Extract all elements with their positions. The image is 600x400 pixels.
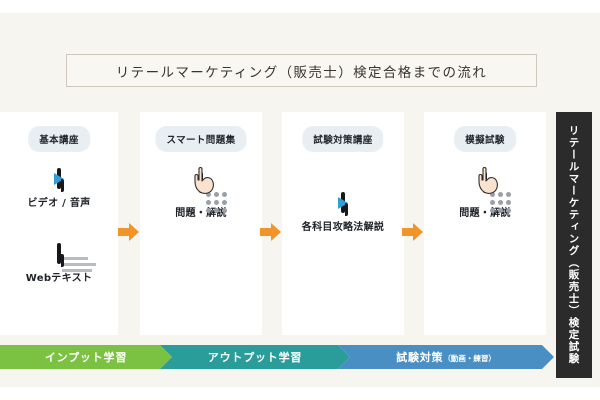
video-tablet-icon xyxy=(57,170,61,188)
step-item-caption-1-2: Webテキスト xyxy=(0,269,118,284)
quiz-phone-hand-icon: Q xyxy=(483,174,487,192)
step-card-4[interactable]: 模擬試験 Q 問題・解説 xyxy=(424,112,546,335)
step-card-1[interactable]: 基本講座 ビデオ / 音声 Webテキスト xyxy=(0,112,118,335)
ribbon-label-exam-prep: 試験対策（動画・練習） xyxy=(396,349,496,365)
step-item-caption-1-1: ビデオ / 音声 xyxy=(0,194,118,209)
step-card-3[interactable]: 試験対策講座 各科目攻略法解説 xyxy=(282,112,404,335)
step-item-caption-3-1: 各科目攻略法解説 xyxy=(282,218,404,233)
web-text-tablet-icon xyxy=(57,245,61,263)
step-badge-1: 基本講座 xyxy=(28,126,90,152)
ribbon-segment-exam-prep[interactable]: 試験対策（動画・練習） xyxy=(338,345,554,369)
step-badge-3: 試験対策講座 xyxy=(302,126,383,152)
step-item-caption-2-1: 問題・解説 xyxy=(140,204,262,219)
step-item-1-2: Webテキスト xyxy=(0,245,118,284)
quiz-phone-hand-icon: Q xyxy=(199,174,203,192)
ribbon-label-input: インプット学習 xyxy=(45,349,127,365)
arrow-right-icon-3 xyxy=(402,222,424,242)
step-item-4-1: Q 問題・解説 xyxy=(424,174,546,219)
ribbon-sublabel-exam-prep: （動画・練習） xyxy=(443,354,496,363)
exam-sidebar[interactable]: リテールマーケティング（販売士）検定試験 xyxy=(556,112,592,378)
step-card-2[interactable]: スマート問題集 Q 問題・解説 xyxy=(140,112,262,335)
step-badge-label-3: 試験対策講座 xyxy=(313,135,372,146)
step-badge-4: 模擬試験 xyxy=(454,126,516,152)
step-item-2-1: Q 問題・解説 xyxy=(140,174,262,219)
exam-sidebar-label: リテールマーケティング（販売士）検定試験 xyxy=(556,112,592,378)
video-tablet-icon xyxy=(341,194,345,212)
page-title-box: リテールマーケティング（販売士）検定合格までの流れ xyxy=(66,54,537,87)
step-badge-label-2: スマート問題集 xyxy=(166,135,235,146)
arrow-right-icon-2 xyxy=(260,222,282,242)
pointing-hand-icon xyxy=(191,165,217,195)
step-badge-label-1: 基本講座 xyxy=(39,135,79,146)
step-badge-label-4: 模擬試験 xyxy=(465,135,505,146)
ribbon-label-output: アウトプット学習 xyxy=(208,349,302,365)
page-title: リテールマーケティング（販売士）検定合格までの流れ xyxy=(116,61,487,81)
ribbon-segment-input[interactable]: インプット学習 xyxy=(0,345,172,369)
infographic-canvas: リテールマーケティング（販売士）検定合格までの流れ 基本講座 ビデオ / 音声 xyxy=(0,0,600,400)
ribbon-segment-output[interactable]: アウトプット学習 xyxy=(160,345,350,369)
step-item-caption-4-1: 問題・解説 xyxy=(424,204,546,219)
step-item-1-1: ビデオ / 音声 xyxy=(0,170,118,209)
pointing-hand-icon xyxy=(475,165,501,195)
step-item-3-1: 各科目攻略法解説 xyxy=(282,194,404,233)
step-badge-2: スマート問題集 xyxy=(155,126,246,152)
arrow-right-icon-1 xyxy=(118,222,140,242)
